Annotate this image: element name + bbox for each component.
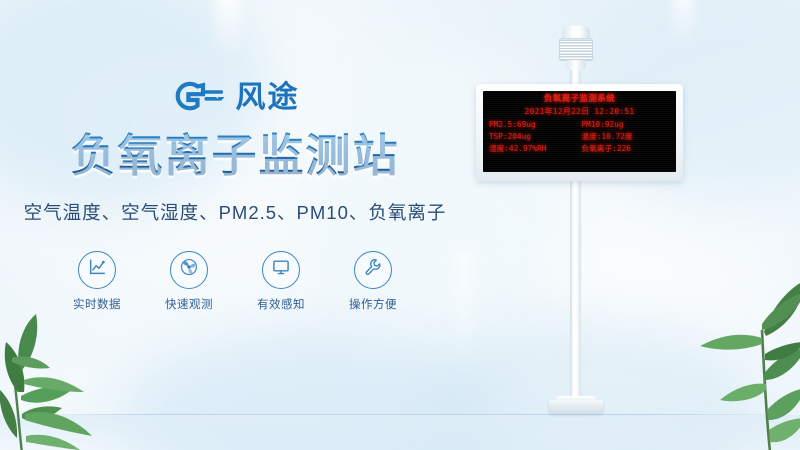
gf-wind-logo-icon [171, 80, 227, 117]
led-reading-negative-ion: 负氧离子:226 [582, 143, 671, 154]
feature-item-fast-observation[interactable]: 快速观测 [158, 251, 220, 312]
led-readings-grid: PM2.5:69ug PM10:92ug TSP:204ug 温度:10.72度… [489, 119, 670, 154]
feature-icon-circle [262, 251, 300, 289]
feature-label: 操作方便 [342, 296, 404, 312]
led-content: 负氧离子监测系统 2021年12月22日 12:20:51 PM2.5:69ug… [483, 94, 676, 154]
led-reading-pm10: PM10:92ug [582, 119, 671, 130]
background-streak [672, 0, 694, 46]
led-title: 负氧离子监测系统 [489, 94, 670, 105]
led-display-panel: 负氧离子监测系统 2021年12月22日 12:20:51 PM2.5:69ug… [483, 91, 676, 172]
radiation-shield-sensor-icon [552, 26, 600, 70]
feature-label: 有效感知 [250, 296, 312, 312]
background-streak [215, 0, 241, 60]
led-reading-humidity: 湿度:42.97%RH [489, 143, 578, 154]
radar-fan-icon [179, 257, 199, 282]
feature-label: 实时数据 [66, 296, 128, 312]
feature-item-easy-operation[interactable]: 操作方便 [342, 251, 404, 312]
brand-name: 风途 [236, 83, 300, 113]
feature-item-realtime-data[interactable]: 实时数据 [66, 251, 128, 312]
led-reading-temperature: 温度:10.72度 [582, 131, 671, 142]
page-title: 负氧离子监测站 [0, 132, 470, 181]
feature-icon-circle [170, 251, 208, 289]
ground-line [0, 414, 800, 415]
page-subtitle: 空气温度、空气湿度、PM2.5、PM10、负氧离子 [0, 199, 470, 225]
marketing-panel: 风途 负氧离子监测站 空气温度、空气湿度、PM2.5、PM10、负氧离子 实时数… [0, 78, 470, 312]
line-chart-icon [87, 257, 107, 282]
sensor-louvers [559, 38, 593, 61]
led-reading-tsp: TSP:204ug [489, 131, 578, 142]
wrench-icon [363, 257, 383, 282]
poster-canvas: 风途 负氧离子监测站 空气温度、空气湿度、PM2.5、PM10、负氧离子 实时数… [0, 0, 800, 450]
feature-list: 实时数据 快速观测 [0, 251, 470, 312]
led-display-frame[interactable]: 负氧离子监测系统 2021年12月22日 12:20:51 PM2.5:69ug… [476, 84, 683, 181]
feature-icon-circle [354, 251, 392, 289]
led-reading-pm25: PM2.5:69ug [489, 119, 578, 130]
feature-icon-circle [78, 251, 116, 289]
ground-shadow [0, 415, 800, 450]
monitor-icon [271, 257, 291, 282]
feature-item-effective-sensing[interactable]: 有效感知 [250, 251, 312, 312]
led-datetime: 2021年12月22日 12:20:51 [489, 106, 670, 118]
brand-lockup: 风途 [0, 78, 470, 118]
sensor-foot [566, 60, 586, 70]
station-base-plate [549, 400, 603, 414]
feature-label: 快速观测 [158, 296, 220, 312]
